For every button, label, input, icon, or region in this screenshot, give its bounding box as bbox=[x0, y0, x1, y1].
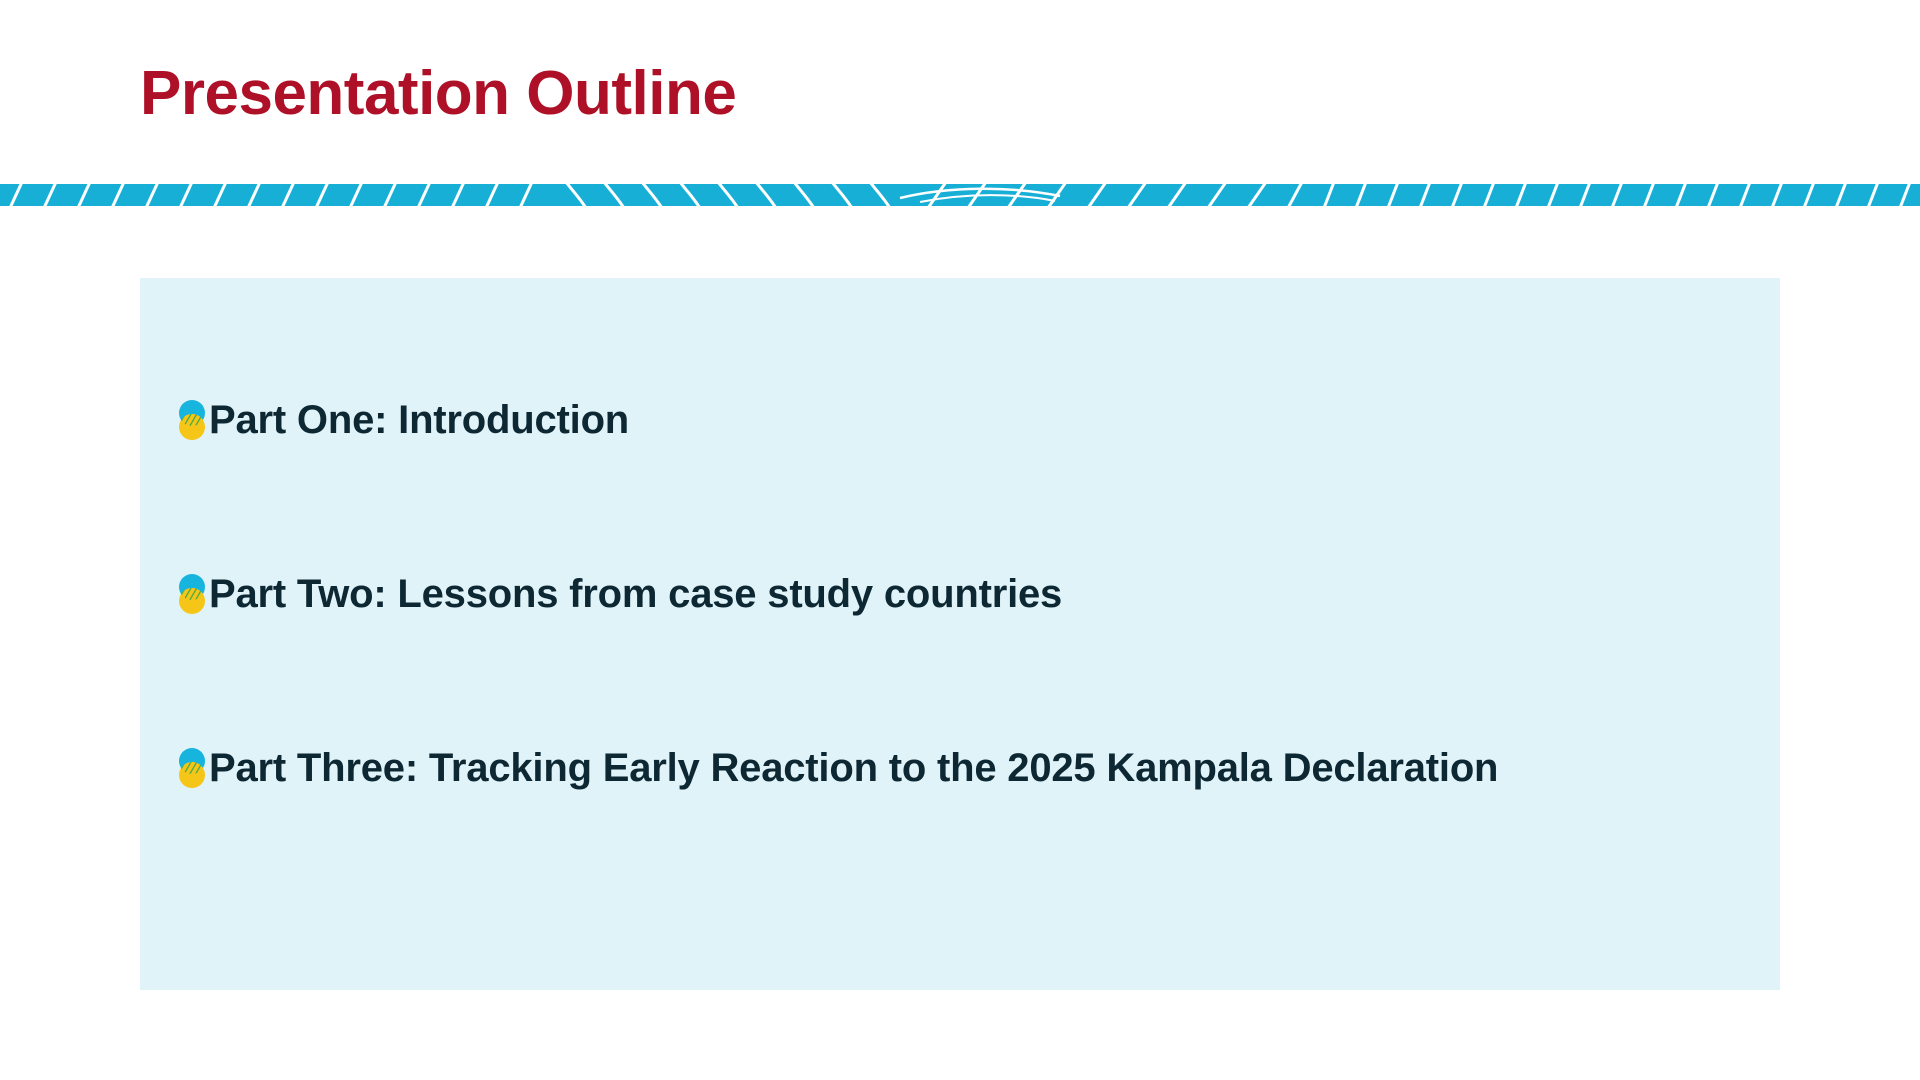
list-item[interactable]: Part Two: Lessons from case study countr… bbox=[177, 564, 1777, 624]
outline-list: Part One: Introduction bbox=[177, 390, 1777, 798]
two-circle-venn-bullet-icon bbox=[177, 745, 207, 791]
outline-item-label: Part Three: Tracking Early Reaction to t… bbox=[209, 746, 1498, 790]
presentation-slide: Presentation Outline bbox=[0, 0, 1920, 1080]
list-item[interactable]: Part One: Introduction bbox=[177, 390, 1777, 450]
outline-panel: Part One: Introduction bbox=[140, 278, 1780, 990]
list-item[interactable]: Part Three: Tracking Early Reaction to t… bbox=[177, 738, 1777, 798]
two-circle-venn-bullet-icon bbox=[177, 571, 207, 617]
outline-item-label: Part Two: Lessons from case study countr… bbox=[209, 572, 1062, 616]
outline-item-label: Part One: Introduction bbox=[209, 398, 629, 442]
page-title: Presentation Outline bbox=[140, 58, 736, 129]
wave-hatch-band-icon bbox=[0, 184, 1920, 206]
two-circle-venn-bullet-icon bbox=[177, 397, 207, 443]
